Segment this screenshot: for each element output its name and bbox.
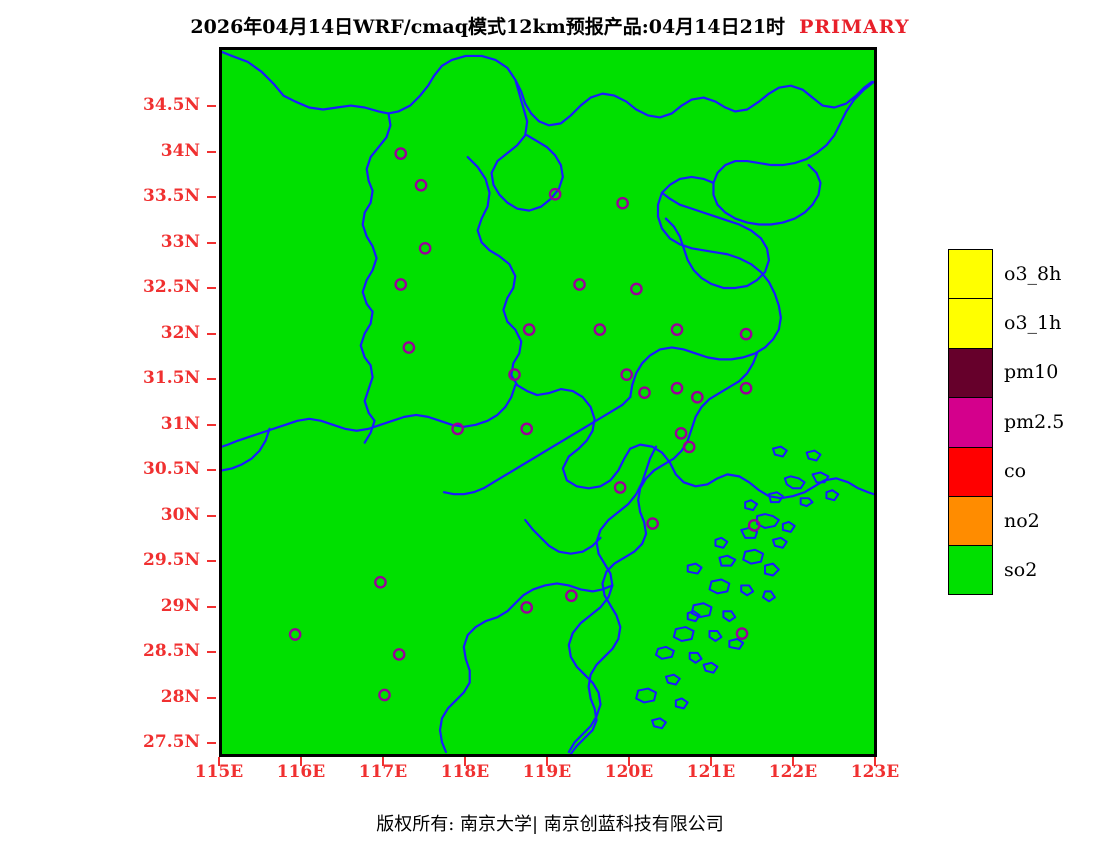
legend-item[interactable]: o3_8h bbox=[948, 249, 1064, 298]
y-axis-tick-mark bbox=[207, 560, 216, 562]
coastal-islands bbox=[636, 447, 838, 729]
station-marker[interactable] bbox=[631, 284, 641, 294]
y-axis-tick-label: 28N bbox=[0, 687, 200, 707]
legend-color-swatch bbox=[948, 348, 993, 397]
y-axis-tick-label: 33.5N bbox=[0, 186, 200, 206]
station-marker[interactable] bbox=[404, 342, 414, 352]
title-primary-badge: PRIMARY bbox=[799, 16, 910, 38]
y-axis-tick-mark bbox=[207, 196, 216, 198]
x-axis-tick-mark bbox=[300, 757, 302, 766]
y-axis-tick-label: 31N bbox=[0, 414, 200, 434]
chart-title: 2026年04月14日WRF/cmaq模式12km预报产品:04月14日21时P… bbox=[0, 12, 1100, 39]
station-marker[interactable] bbox=[741, 383, 751, 393]
station-marker[interactable] bbox=[684, 442, 694, 452]
station-marker[interactable] bbox=[522, 602, 532, 612]
station-marker[interactable] bbox=[639, 388, 649, 398]
administrative-borders bbox=[222, 52, 874, 754]
station-marker[interactable] bbox=[420, 243, 430, 253]
y-axis-tick-label: 34N bbox=[0, 141, 200, 161]
y-axis-tick-mark bbox=[207, 697, 216, 699]
station-marker[interactable] bbox=[396, 279, 406, 289]
station-marker[interactable] bbox=[396, 148, 406, 158]
y-axis-tick-label: 28.5N bbox=[0, 641, 200, 661]
y-axis-tick-label: 29N bbox=[0, 596, 200, 616]
y-axis-tick-mark bbox=[207, 742, 216, 744]
x-axis-tick-mark bbox=[546, 757, 548, 766]
station-marker[interactable] bbox=[737, 628, 747, 638]
y-axis-tick-mark bbox=[207, 606, 216, 608]
y-axis-tick-label: 32N bbox=[0, 323, 200, 343]
station-marker[interactable] bbox=[615, 482, 625, 492]
legend-item[interactable]: no2 bbox=[948, 496, 1064, 545]
station-marker[interactable] bbox=[522, 424, 532, 434]
legend-item-label: o3_1h bbox=[1004, 312, 1061, 334]
y-axis-tick-label: 30.5N bbox=[0, 459, 200, 479]
pollutant-legend[interactable]: o3_8ho3_1hpm10pm2.5cono2so2 bbox=[948, 249, 1064, 595]
station-marker[interactable] bbox=[622, 369, 632, 379]
x-axis-tick-mark bbox=[218, 757, 220, 766]
x-axis-tick-mark bbox=[874, 757, 876, 766]
legend-item-label: co bbox=[1004, 460, 1026, 482]
station-marker[interactable] bbox=[617, 198, 627, 208]
y-axis-tick-mark bbox=[207, 242, 216, 244]
station-marker[interactable] bbox=[672, 383, 682, 393]
station-marker[interactable] bbox=[676, 428, 686, 438]
station-marker[interactable] bbox=[566, 591, 576, 601]
legend-item-label: pm10 bbox=[1004, 361, 1058, 383]
legend-item-label: o3_8h bbox=[1004, 263, 1061, 285]
station-marker[interactable] bbox=[741, 329, 751, 339]
y-axis-tick-mark bbox=[207, 105, 216, 107]
title-main-text: 2026年04月14日WRF/cmaq模式12km预报产品:04月14日21时 bbox=[190, 16, 785, 38]
y-axis-tick-mark bbox=[207, 333, 216, 335]
legend-item-label: so2 bbox=[1004, 559, 1037, 581]
y-axis-tick-label: 34.5N bbox=[0, 95, 200, 115]
legend-color-swatch bbox=[948, 447, 993, 496]
y-axis-tick-label: 31.5N bbox=[0, 368, 200, 388]
legend-item[interactable]: pm2.5 bbox=[948, 397, 1064, 446]
station-marker[interactable] bbox=[375, 577, 385, 587]
legend-color-swatch bbox=[948, 496, 993, 545]
y-axis-tick-mark bbox=[207, 287, 216, 289]
legend-color-swatch bbox=[948, 298, 993, 347]
legend-item[interactable]: pm10 bbox=[948, 348, 1064, 397]
x-axis-tick-mark bbox=[792, 757, 794, 766]
monitoring-stations bbox=[290, 148, 759, 700]
y-axis-tick-mark bbox=[207, 651, 216, 653]
copyright-footer: 版权所有: 南京大学| 南京创蓝科技有限公司 bbox=[0, 810, 1100, 836]
x-axis-tick-mark bbox=[464, 757, 466, 766]
legend-color-swatch bbox=[948, 249, 993, 298]
station-marker[interactable] bbox=[595, 324, 605, 334]
station-marker[interactable] bbox=[672, 324, 682, 334]
legend-item-label: no2 bbox=[1004, 510, 1040, 532]
y-axis-tick-label: 33N bbox=[0, 232, 200, 252]
x-axis-tick-mark bbox=[710, 757, 712, 766]
map-plot-area[interactable] bbox=[219, 47, 877, 757]
station-marker[interactable] bbox=[379, 690, 389, 700]
station-marker[interactable] bbox=[524, 324, 534, 334]
legend-item[interactable]: co bbox=[948, 447, 1064, 496]
station-marker[interactable] bbox=[290, 629, 300, 639]
y-axis-tick-label: 30N bbox=[0, 505, 200, 525]
station-marker[interactable] bbox=[692, 392, 702, 402]
map-vector-layer bbox=[222, 50, 874, 754]
station-marker[interactable] bbox=[574, 279, 584, 289]
y-axis-tick-label: 27.5N bbox=[0, 732, 200, 752]
y-axis-tick-label: 29.5N bbox=[0, 550, 200, 570]
y-axis-tick-label: 32.5N bbox=[0, 277, 200, 297]
legend-color-swatch bbox=[948, 397, 993, 446]
y-axis-tick-mark bbox=[207, 515, 216, 517]
station-marker[interactable] bbox=[647, 518, 657, 528]
x-axis-tick-mark bbox=[628, 757, 630, 766]
legend-item-label: pm2.5 bbox=[1004, 411, 1064, 433]
legend-item[interactable]: so2 bbox=[948, 545, 1064, 594]
station-marker[interactable] bbox=[416, 180, 426, 190]
x-axis-tick-mark bbox=[382, 757, 384, 766]
legend-item[interactable]: o3_1h bbox=[948, 298, 1064, 347]
y-axis-tick-mark bbox=[207, 469, 216, 471]
y-axis-tick-mark bbox=[207, 378, 216, 380]
station-marker[interactable] bbox=[394, 649, 404, 659]
y-axis-tick-mark bbox=[207, 424, 216, 426]
y-axis-tick-mark bbox=[207, 151, 216, 153]
legend-color-swatch bbox=[948, 545, 993, 594]
